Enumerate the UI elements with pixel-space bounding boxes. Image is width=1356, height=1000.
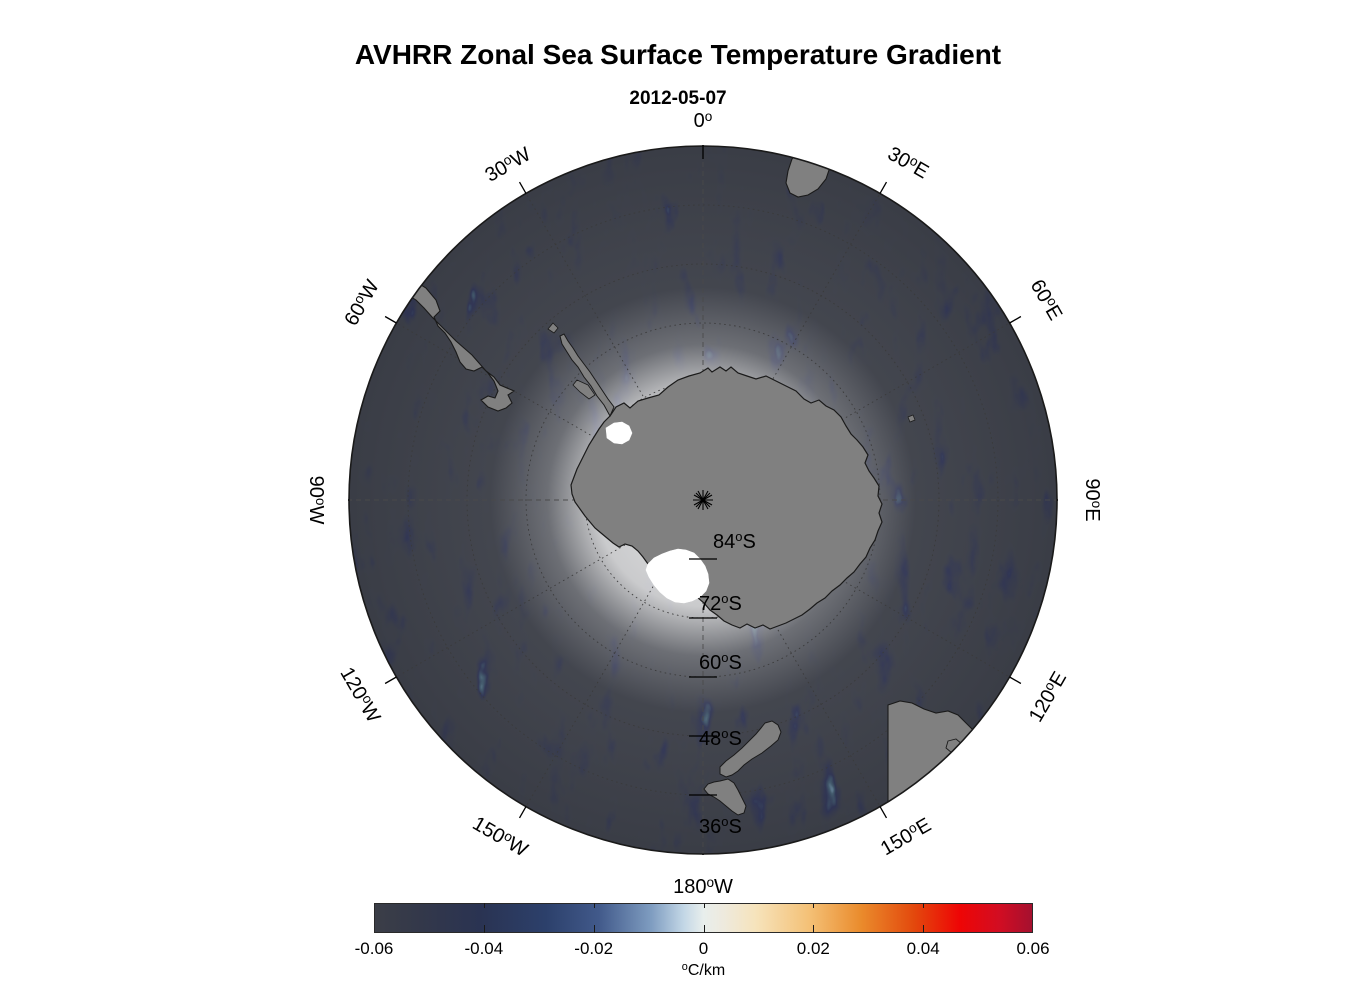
lon-label-90e: 90oE <box>1080 478 1104 521</box>
colorbar-tick-label: 0.04 <box>907 939 940 959</box>
colorbar[interactable]: -0.06-0.04-0.0200.020.040.06 <box>374 903 1033 933</box>
page-title: AVHRR Zonal Sea Surface Temperature Grad… <box>0 39 1356 71</box>
colorbar-tick-label: -0.06 <box>355 939 394 959</box>
colorbar-tick-mark-top <box>813 903 814 908</box>
lat-label-48s: 48oS <box>699 726 742 750</box>
africa-coast-upper <box>784 145 803 157</box>
colorbar-tick-label: 0.06 <box>1016 939 1049 959</box>
colorbar-tick-label: -0.02 <box>574 939 613 959</box>
colorbar-tick-mark-top <box>704 903 705 908</box>
lat-label-84s: 84oS <box>713 529 756 553</box>
figure-subtitle: 2012-05-07 <box>0 88 1356 110</box>
colorbar-tick-mark <box>594 925 595 933</box>
colorbar-unit-label: oC/km <box>374 961 1033 980</box>
colorbar-tick-label: 0.02 <box>797 939 830 959</box>
colorbar-tick-label: -0.04 <box>464 939 503 959</box>
colorbar-tick-mark-top <box>923 903 924 908</box>
pole-marker <box>693 490 713 510</box>
colorbar-tick-mark <box>813 925 814 933</box>
colorbar-tick-label: 0 <box>699 939 708 959</box>
lat-label-60s: 60oS <box>699 650 742 674</box>
polar-map[interactable]: 84oS 72oS 60oS 48oS 36oS <box>348 145 1058 855</box>
colorbar-tick-mark <box>484 925 485 933</box>
colorbar-tick-mark-top <box>484 903 485 908</box>
figure-canvas: AVHRR Zonal Sea Surface Temperature Grad… <box>0 0 1356 1000</box>
lon-label-90w: 90oW <box>304 476 328 525</box>
colorbar-tick-mark <box>923 925 924 933</box>
lon-label-0: 0o <box>694 109 713 133</box>
lon-label-180w: 180oW <box>673 875 733 899</box>
lat-label-36s: 36oS <box>699 814 742 838</box>
colorbar-tick-mark-top <box>594 903 595 908</box>
lat-label-72s: 72oS <box>699 591 742 615</box>
colorbar-tick-mark <box>704 925 705 933</box>
